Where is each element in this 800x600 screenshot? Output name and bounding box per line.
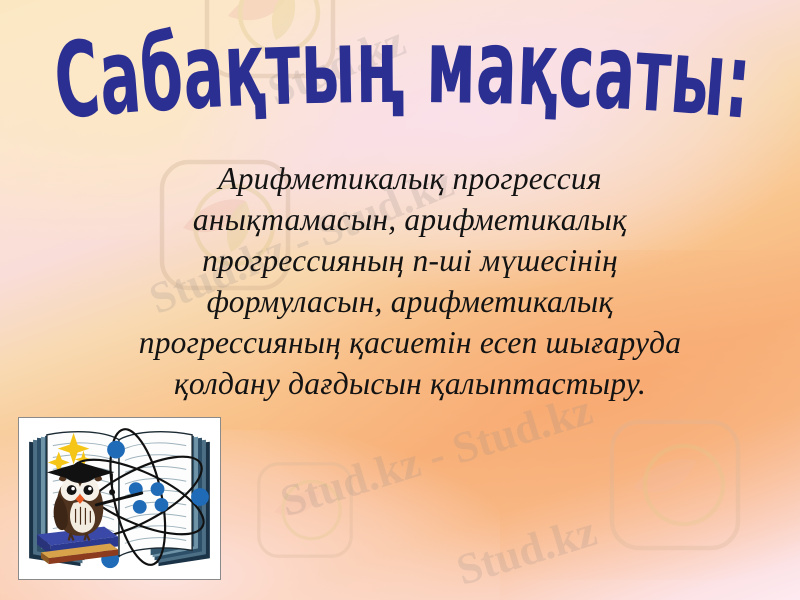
body-line: прогрессияның қасиетін есеп шығаруда bbox=[78, 322, 742, 363]
slide-title: Сабақтың мақсаты: bbox=[0, 2, 800, 134]
owl-scholar-atom-clipart bbox=[18, 417, 221, 580]
body-line: формуласын, арифметикалық bbox=[78, 281, 742, 322]
body-line: Арифметикалық прогрессия bbox=[78, 158, 742, 199]
watermark-text: Stud.kz - Stud.kz bbox=[275, 384, 599, 527]
clipart-illustration bbox=[19, 418, 220, 579]
body-line: анықтамасын, арифметикалық bbox=[78, 199, 742, 240]
slide-title-text: Сабақтың мақсаты: bbox=[50, 5, 756, 134]
watermark-text: Stud.kz bbox=[451, 505, 603, 596]
slide-body-text: Арифметикалық прогрессия анықтамасын, ар… bbox=[78, 158, 742, 404]
svg-text:Сабақтың мақсаты:: Сабақтың мақсаты: bbox=[50, 5, 756, 134]
presentation-slide: Stud.kz Stud.kz - Stud.kz Stud.kz - Stud… bbox=[0, 0, 800, 600]
watermark-logo-icon bbox=[250, 455, 360, 565]
body-line: прогрессияның n-ші мүшесінің bbox=[78, 240, 742, 281]
body-line: қолдану дағдысын қалыптастыру. bbox=[78, 363, 742, 404]
watermark-logo-icon bbox=[600, 410, 750, 560]
